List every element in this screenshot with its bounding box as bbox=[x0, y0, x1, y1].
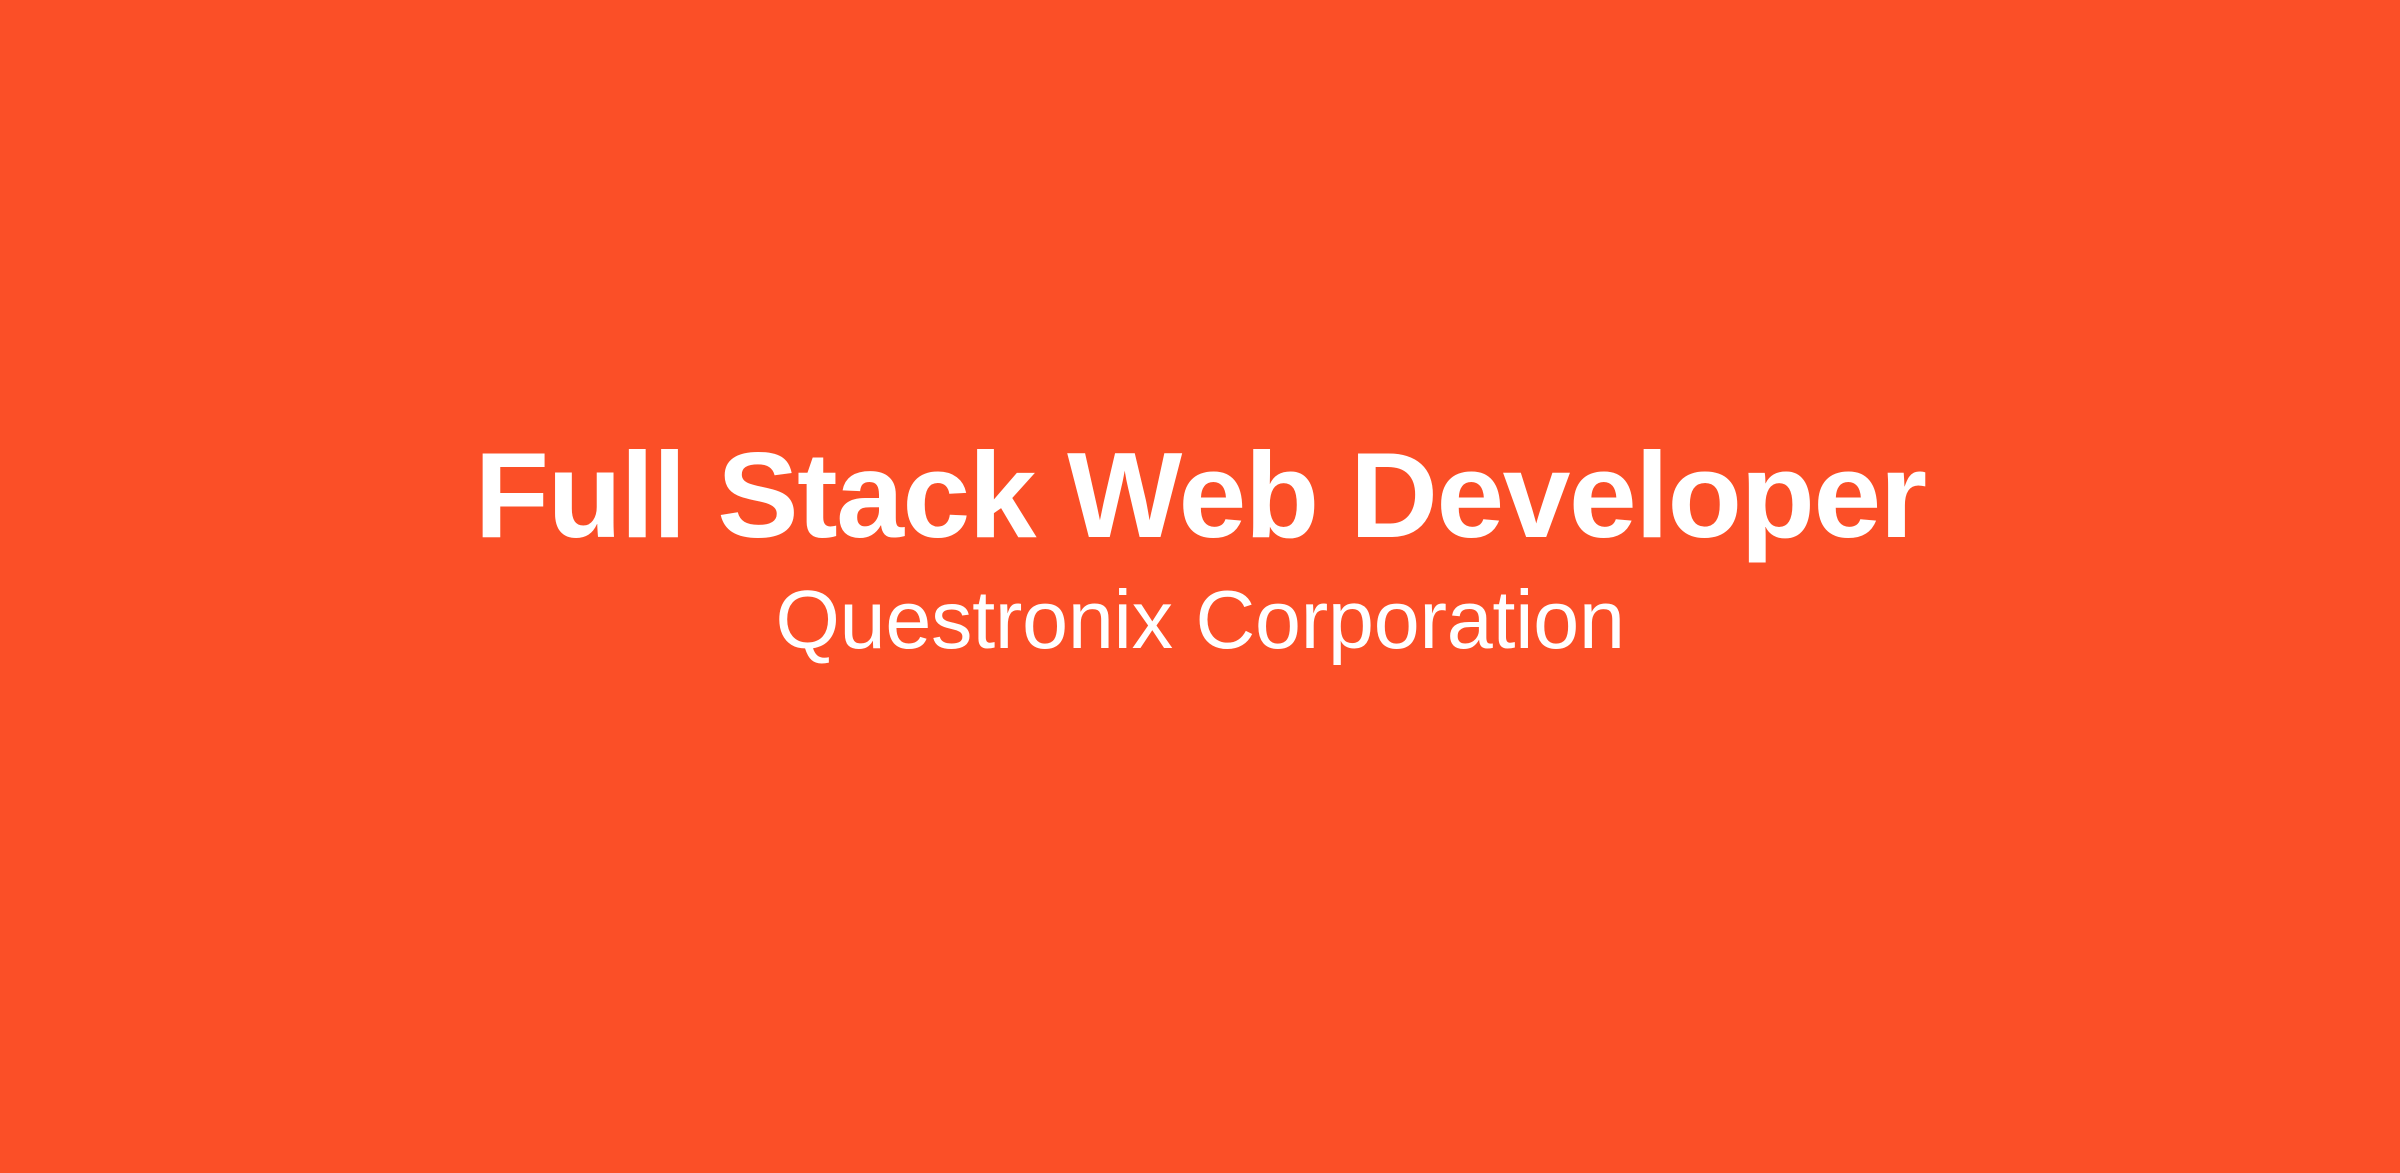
company-name: Questronix Corporation bbox=[775, 570, 1624, 670]
hero-banner: Full Stack Web Developer Questronix Corp… bbox=[0, 0, 2400, 1173]
job-title: Full Stack Web Developer bbox=[475, 422, 1926, 568]
hero-content: Full Stack Web Developer Questronix Corp… bbox=[0, 422, 2400, 670]
